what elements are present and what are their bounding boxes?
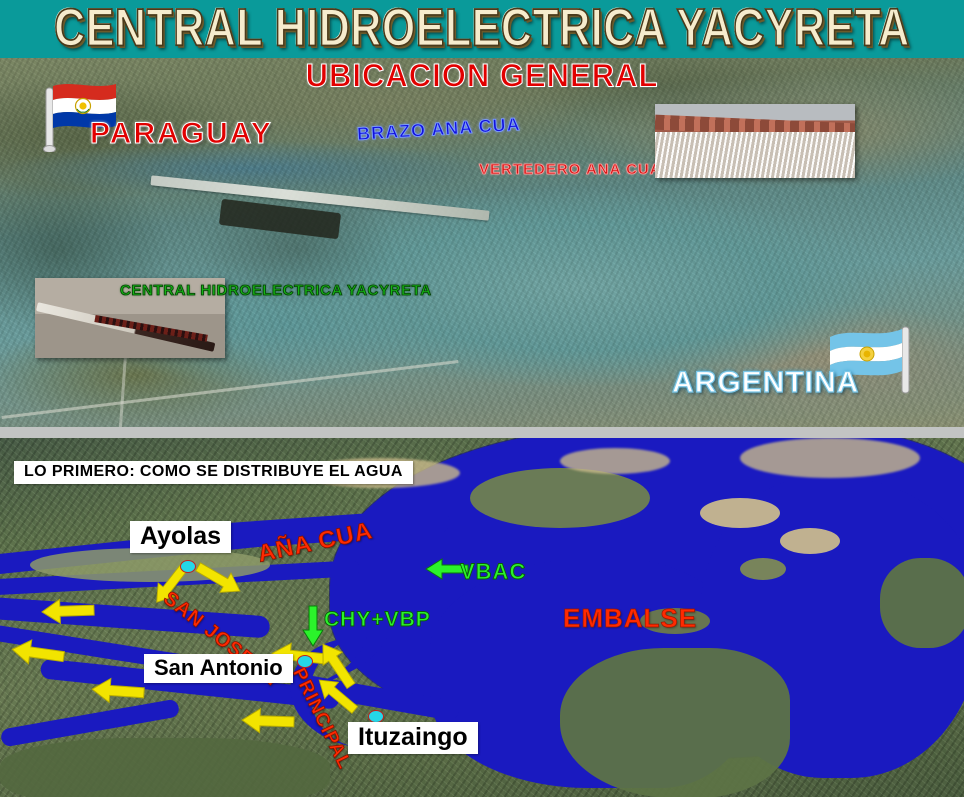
subtitle-ubicacion-general: UBICACION GENERAL — [0, 59, 964, 92]
panel-divider — [0, 427, 964, 438]
reservoir-island — [880, 558, 964, 648]
sandbar-graphic — [740, 438, 920, 478]
place-label-ituzaingo: Ituzaingo — [348, 722, 478, 754]
chy-vbp-arrow-icon — [300, 604, 326, 648]
slide-root: CENTRAL HIDROELECTRICA YACYRETA UBICACIO… — [0, 0, 964, 797]
page-title: CENTRAL HIDROELECTRICA YACYRETA — [0, 3, 964, 55]
reservoir-island — [560, 648, 790, 797]
place-label-ayolas: Ayolas — [130, 521, 231, 553]
label-paraguay: PARAGUAY — [90, 119, 273, 149]
flow-arrow-yellow — [39, 595, 96, 627]
flow-arrow-yellow — [239, 705, 296, 737]
flow-arrow-yellow — [89, 674, 147, 708]
label-vbac: VBAC — [460, 561, 526, 583]
lower-satellite-panel — [0, 438, 964, 797]
reservoir-island — [740, 558, 786, 580]
reservoir-island — [470, 468, 650, 528]
label-embalse: EMBALSE — [563, 605, 697, 631]
label-argentina: ARGENTINA — [672, 368, 859, 398]
label-central-hidroelectrica-yacyreta: CENTRAL HIDROELECTRICA YACYRETA — [120, 283, 432, 298]
spillway-inset-photo — [655, 104, 855, 178]
header-bar: CENTRAL HIDROELECTRICA YACYRETA — [0, 0, 964, 58]
land-patch — [0, 738, 330, 797]
label-vertedero-ana-cua: VERTEDERO ANA CUA — [479, 162, 662, 177]
reservoir-island — [780, 528, 840, 554]
spillway-foam-graphic — [655, 132, 855, 178]
banner-lo-primero: LO PRIMERO: COMO SE DISTRIBUYE EL AGUA — [14, 461, 413, 484]
place-label-san-antonio: San Antonio — [144, 654, 293, 683]
sandbar-graphic — [560, 448, 670, 474]
place-marker-dot — [180, 560, 196, 573]
reservoir-island — [700, 498, 780, 528]
road-line-graphic — [116, 356, 187, 427]
label-chy-vbp: CHY+VBP — [324, 609, 431, 630]
place-marker-dot — [297, 655, 313, 668]
